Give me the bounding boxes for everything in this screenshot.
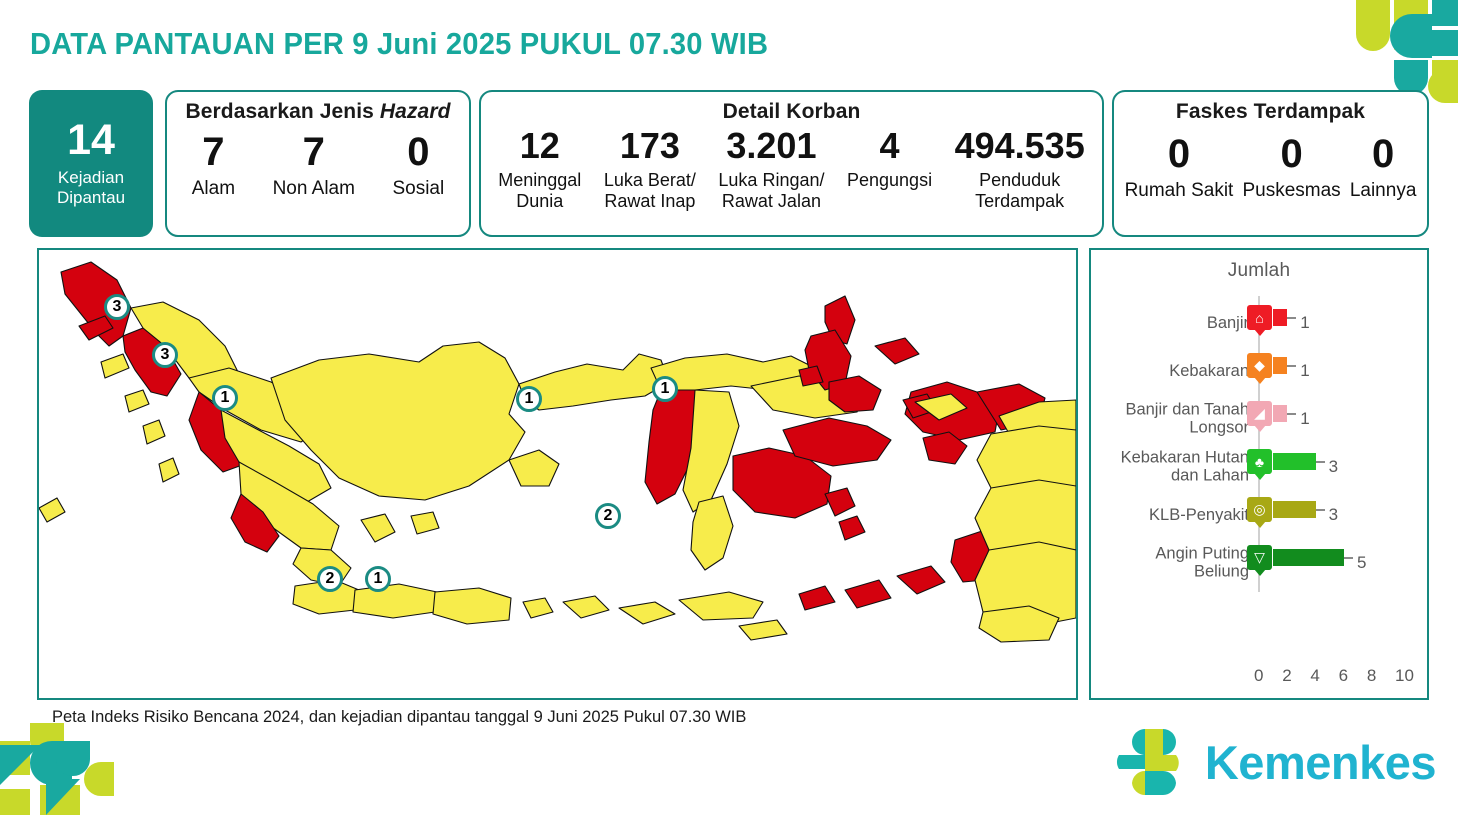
chart-category-label-l2: Longsor [1099, 419, 1249, 437]
faskes-rumah-sakit-label: Rumah Sakit [1125, 180, 1234, 202]
hazard-sosial-label: Sosial [392, 178, 444, 200]
map-island-sumba[interactable] [619, 602, 675, 624]
chart-xtick-label: 8 [1367, 666, 1376, 686]
marker-sumatera-utara[interactable]: 3 [152, 342, 178, 368]
chart-bar-value: 3 [1329, 505, 1338, 525]
flood-house-icon-glyph: ⌂ [1255, 310, 1263, 326]
chart-row: Angin PutingBeliung▽5 [1091, 540, 1431, 586]
forest-fire-icon[interactable]: ♣ [1246, 448, 1273, 475]
faskes-card-title: Faskes Terdampak [1114, 100, 1427, 124]
map-island-wakatobi[interactable] [839, 516, 865, 540]
faskes-stat-lainnya: 0 Lainnya [1350, 134, 1417, 202]
chart-row: Banjir⌂1 [1091, 300, 1431, 346]
korban-pengungsi-value: 4 [847, 128, 932, 164]
chart-bar-leader [1287, 365, 1296, 367]
korban-pengungsi-label-l1: Pengungsi [847, 170, 932, 191]
chart-bar-value: 3 [1329, 457, 1338, 477]
forest-fire-icon-glyph: ♣ [1255, 454, 1264, 470]
marker-riau[interactable]: 1 [212, 385, 238, 411]
map-island-mentawai-n[interactable] [125, 390, 149, 412]
korban-meninggal-label-l1: Meninggal [498, 170, 581, 191]
chart-category-label-l2: Beliung [1099, 563, 1249, 581]
map-island-belitung[interactable] [411, 512, 439, 534]
chart-row: KLB-Penyakit◎3 [1091, 492, 1431, 538]
chart-category-label: Kebakaran Hutandan Lahan [1099, 449, 1249, 486]
map-island-tanimbar-s[interactable] [845, 580, 891, 608]
chart-row: Kebakaran Hutandan Lahan♣3 [1091, 444, 1431, 490]
map-region-kalsel[interactable] [509, 450, 559, 486]
decoration-bottom-left [0, 723, 130, 815]
hazard-stat-sosial: 0 Sosial [392, 132, 444, 200]
map-island-enggano[interactable] [39, 498, 65, 522]
page-title: DATA PANTAUAN PER 9 Juni 2025 PUKUL 07.3… [30, 26, 768, 62]
hazard-non-alam-value: 7 [273, 132, 355, 172]
faskes-lainnya-value: 0 [1350, 134, 1417, 174]
faskes-terdampak-card: Faskes Terdampak 0 Rumah Sakit 0 Puskesm… [1112, 90, 1429, 237]
chart-bar [1273, 501, 1316, 518]
chart-x-axis: 0246810 [1254, 664, 1414, 688]
chart-plot-area: Banjir⌂1Kebakaran◆1Banjir dan TanahLongs… [1091, 292, 1431, 657]
map-region-jateng[interactable] [353, 584, 437, 618]
hazard-non-alam-label: Non Alam [273, 178, 355, 200]
faskes-stat-puskesmas: 0 Puskesmas [1242, 134, 1340, 202]
faskes-puskesmas-label: Puskesmas [1242, 180, 1340, 202]
chart-bar [1273, 357, 1287, 374]
kejadian-label-line1: Kejadian [57, 168, 125, 188]
chart-xtick-label: 0 [1254, 666, 1263, 686]
chart-category-label: Banjir [1099, 314, 1249, 332]
marker-aceh[interactable]: 3 [104, 294, 130, 320]
marker-jawa-barat[interactable]: 2 [317, 566, 343, 592]
kejadian-count: 14 [67, 119, 115, 162]
chart-bar [1273, 549, 1344, 566]
map-island-nias[interactable] [101, 354, 129, 378]
map-island-babar[interactable] [799, 586, 835, 610]
kemenkes-mark-icon [1115, 725, 1193, 799]
stats-row: 14 Kejadian Dipantau Berdasarkan Jenis H… [29, 90, 1429, 237]
kejadian-dipantau-card: 14 Kejadian Dipantau [29, 90, 153, 237]
map-island-timor[interactable] [739, 620, 787, 640]
chart-bar-value: 1 [1300, 409, 1309, 429]
marker-jawa-tengah[interactable]: 1 [365, 566, 391, 592]
chart-bar-value: 1 [1300, 313, 1309, 333]
korban-penduduk-label-l2: Terdampak [955, 191, 1085, 212]
disease-outbreak-icon-glyph: ◎ [1253, 501, 1265, 518]
hazard-alam-value: 7 [192, 132, 235, 172]
chart-category-label-l1: Kebakaran [1099, 362, 1249, 380]
korban-stat-meninggal: 12 Meninggal Dunia [498, 128, 581, 211]
map-region-sulsel[interactable] [691, 496, 733, 570]
landslide-icon-glyph: ◢ [1254, 405, 1265, 422]
kejadian-label-line2: Dipantau [57, 188, 125, 208]
map-island-mentawai-s2[interactable] [159, 458, 179, 482]
indonesia-risk-map-panel[interactable]: 33111221 [37, 248, 1078, 700]
map-island-bangka[interactable] [361, 514, 395, 542]
hazard-card-title: Berdasarkan Jenis Hazard [167, 100, 469, 124]
chart-category-label-l1: Kebakaran Hutan [1099, 449, 1249, 467]
chart-category-label: Angin PutingBeliung [1099, 545, 1249, 582]
chart-bar-leader [1287, 413, 1296, 415]
disease-outbreak-icon[interactable]: ◎ [1246, 496, 1273, 523]
korban-luka-ringan-value: 3.201 [718, 128, 824, 164]
chart-category-label-l2: dan Lahan [1099, 467, 1249, 485]
korban-stat-luka-ringan: 3.201 Luka Ringan/ Rawat Jalan [718, 128, 824, 211]
flood-house-icon[interactable]: ⌂ [1246, 304, 1273, 331]
map-island-buton[interactable] [825, 488, 855, 516]
marker-sulawesi-utara[interactable]: 1 [652, 376, 678, 402]
marker-kalimantan-timur[interactable]: 1 [516, 386, 542, 412]
korban-penduduk-value: 494.535 [955, 128, 1085, 164]
faskes-rumah-sakit-value: 0 [1125, 134, 1234, 174]
chart-xtick-label: 4 [1310, 666, 1319, 686]
kemenkes-wordmark: Kemenkes [1205, 735, 1436, 790]
chart-bar [1273, 309, 1287, 326]
korban-meninggal-label-l2: Dunia [498, 191, 581, 212]
korban-card-title: Detail Korban [481, 100, 1102, 124]
korban-stat-pengungsi: 4 Pengungsi [847, 128, 932, 191]
faskes-puskesmas-value: 0 [1242, 134, 1340, 174]
chart-category-label: KLB-Penyakit [1099, 506, 1249, 524]
hazard-title-italic: Hazard [380, 100, 451, 123]
korban-luka-ringan-label-l1: Luka Ringan/ [718, 170, 824, 191]
chart-row: Banjir dan TanahLongsor◢1 [1091, 396, 1431, 442]
detail-korban-card: Detail Korban 12 Meninggal Dunia 173 Luk… [479, 90, 1104, 237]
faskes-lainnya-label: Lainnya [1350, 180, 1417, 202]
chart-bar-leader [1316, 509, 1325, 511]
hazard-sosial-value: 0 [392, 132, 444, 172]
map-island-tanimbar-n[interactable] [897, 566, 945, 594]
korban-meninggal-label: Meninggal Dunia [498, 170, 581, 211]
korban-stat-luka-berat: 173 Luka Berat/ Rawat Inap [604, 128, 696, 211]
kemenkes-logo: Kemenkes [1115, 725, 1436, 799]
chart-category-label: Kebakaran [1099, 362, 1249, 380]
chart-bar-leader [1287, 317, 1296, 319]
korban-pengungsi-label: Pengungsi [847, 170, 932, 191]
landslide-icon[interactable]: ◢ [1246, 400, 1273, 427]
chart-xtick-label: 6 [1339, 666, 1348, 686]
korban-luka-ringan-label-l2: Rawat Jalan [718, 191, 824, 212]
marker-sulawesi-selatan[interactable]: 2 [595, 503, 621, 529]
map-island-mentawai-s[interactable] [143, 420, 165, 444]
hazard-stat-alam: 7 Alam [192, 132, 235, 200]
fire-flame-icon[interactable]: ◆ [1246, 352, 1273, 379]
tornado-icon-glyph: ▽ [1254, 549, 1265, 566]
chart-category-label-l1: Angin Puting [1099, 545, 1249, 563]
chart-category-label: Banjir dan TanahLongsor [1099, 401, 1249, 438]
chart-row: Kebakaran◆1 [1091, 348, 1431, 394]
map-island-lombok-sumbawa[interactable] [563, 596, 609, 618]
map-island-flores[interactable] [679, 592, 763, 620]
korban-luka-berat-value: 173 [604, 128, 696, 164]
chart-bar [1273, 405, 1287, 422]
chart-category-label-l1: Banjir dan Tanah [1099, 401, 1249, 419]
korban-meninggal-value: 12 [498, 128, 581, 164]
hazard-stat-non-alam: 7 Non Alam [273, 132, 355, 200]
korban-luka-berat-label-l1: Luka Berat/ [604, 170, 696, 191]
korban-luka-berat-label-l2: Rawat Inap [604, 191, 696, 212]
chart-category-label-l1: KLB-Penyakit [1099, 506, 1249, 524]
korban-penduduk-label: Penduduk Terdampak [955, 170, 1085, 211]
chart-title: Jumlah [1091, 260, 1427, 282]
map-island-obi-n[interactable] [875, 338, 919, 364]
chart-bar-leader [1344, 557, 1353, 559]
map-region-jatim[interactable] [433, 588, 511, 624]
fire-flame-icon-glyph: ◆ [1254, 357, 1265, 374]
map-island-bali[interactable] [523, 598, 553, 618]
hazard-count-chart-panel: Jumlah Banjir⌂1Kebakaran◆1Banjir dan Tan… [1089, 248, 1429, 700]
tornado-icon[interactable]: ▽ [1246, 544, 1273, 571]
chart-category-label-l1: Banjir [1099, 314, 1249, 332]
hazard-title-plain: Berdasarkan Jenis [185, 100, 379, 123]
faskes-stat-rumah-sakit: 0 Rumah Sakit [1125, 134, 1234, 202]
hazard-card: Berdasarkan Jenis Hazard 7 Alam 7 Non Al… [165, 90, 471, 237]
chart-bar-value: 5 [1357, 553, 1366, 573]
chart-bar-value: 1 [1300, 361, 1309, 381]
chart-xtick-label: 10 [1395, 666, 1414, 686]
chart-bar [1273, 453, 1316, 470]
korban-penduduk-label-l1: Penduduk [955, 170, 1085, 191]
chart-xtick-label: 2 [1282, 666, 1291, 686]
korban-stat-penduduk-terdampak: 494.535 Penduduk Terdampak [955, 128, 1085, 211]
hazard-alam-label: Alam [192, 178, 235, 200]
korban-luka-berat-label: Luka Berat/ Rawat Inap [604, 170, 696, 211]
korban-luka-ringan-label: Luka Ringan/ Rawat Jalan [718, 170, 824, 211]
indonesia-map[interactable] [39, 250, 1076, 698]
chart-bar-leader [1316, 461, 1325, 463]
footer-note: Peta Indeks Risiko Bencana 2024, dan kej… [52, 708, 746, 727]
